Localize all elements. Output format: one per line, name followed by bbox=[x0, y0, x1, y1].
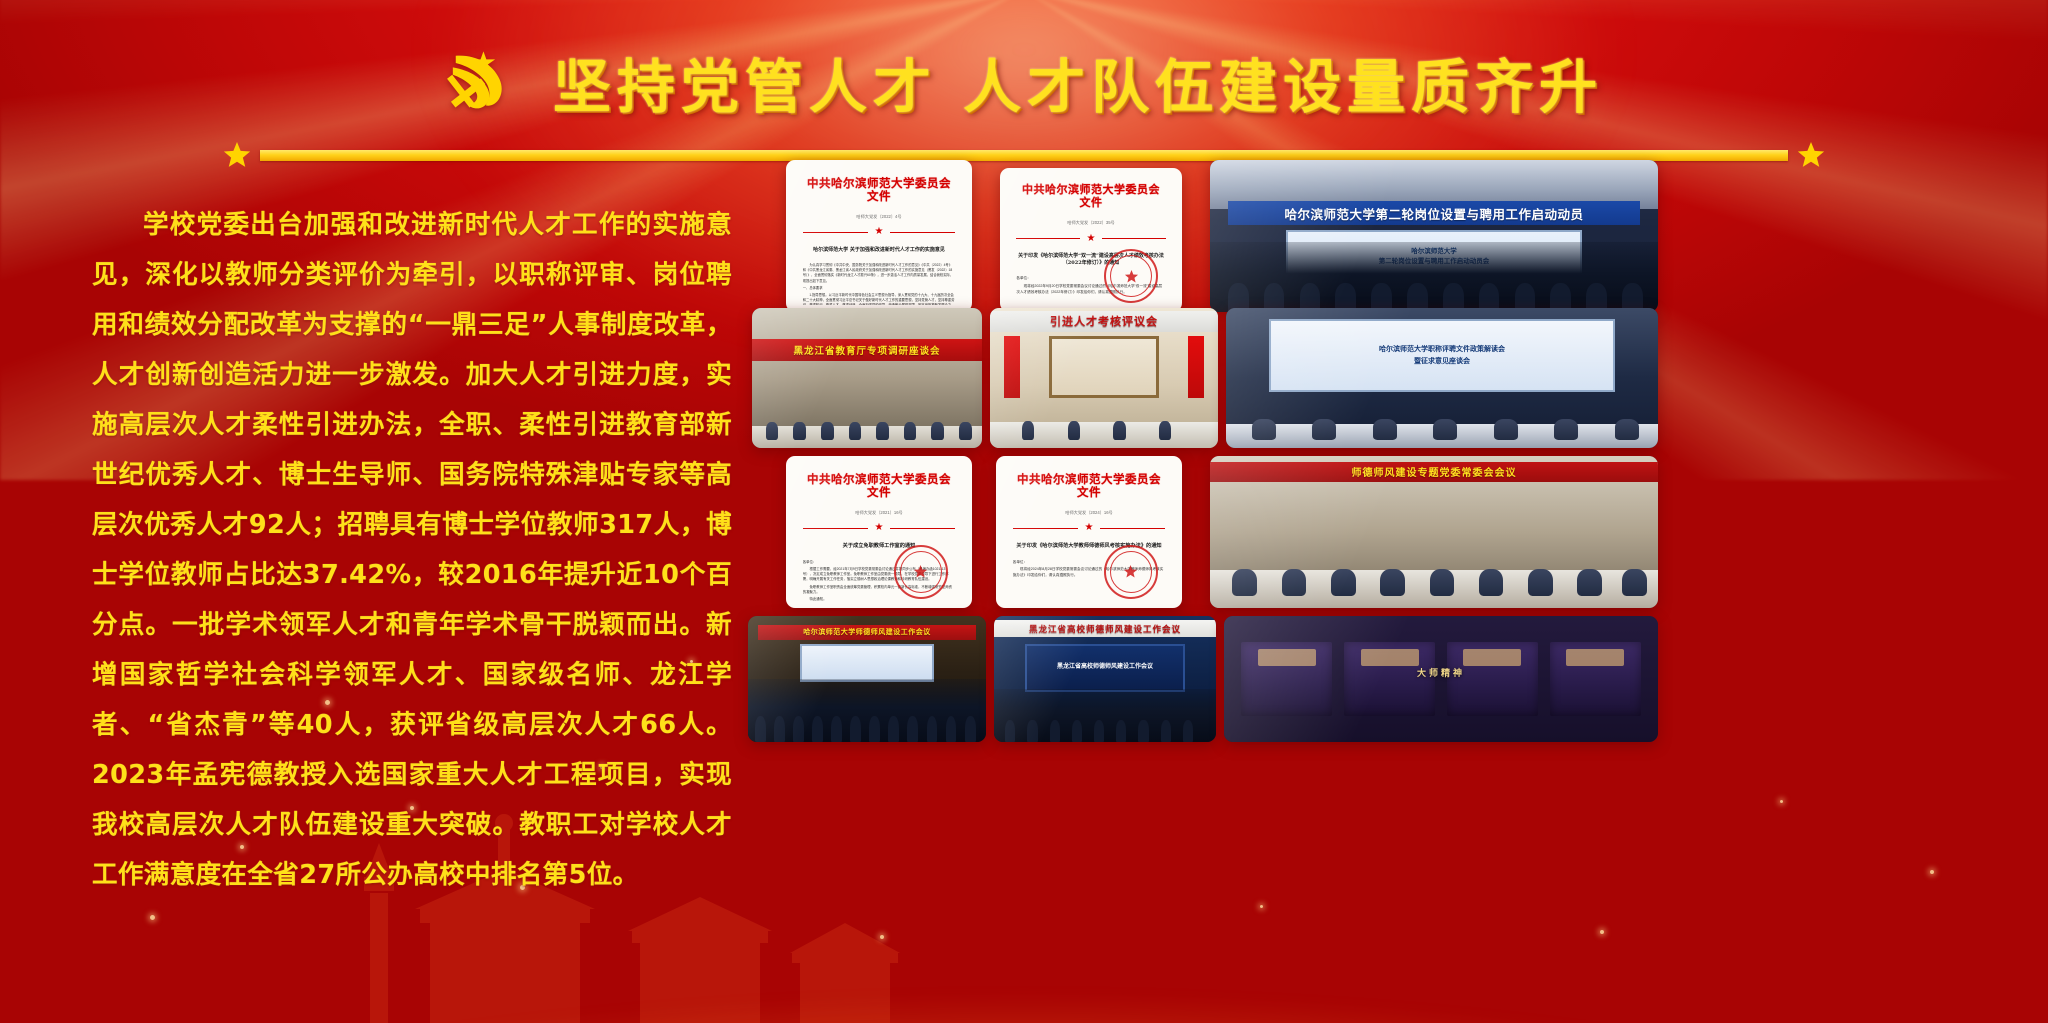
photo-exhibition-rollups: 大师精神 bbox=[1224, 616, 1658, 742]
gallery-item-document[interactable]: 中共哈尔滨师范大学委员会文件 哈师大党发〔2022〕4号 ★ 哈尔滨师范大学 关… bbox=[786, 160, 972, 312]
gallery-item-photo[interactable]: 引进人才考核评议会 bbox=[990, 308, 1218, 448]
gallery-item-photo[interactable]: 哈尔滨师范大学职称评聘文件政策解读会 暨征求意见座谈会 bbox=[1226, 308, 1658, 448]
document-code: 哈师大党发〔2022〕35号 bbox=[1016, 220, 1165, 226]
gallery-item-photo[interactable]: 大师精神 bbox=[1224, 616, 1658, 742]
gallery-item-photo[interactable]: 师德师风建设专题党委常委会会议 bbox=[1210, 456, 1658, 608]
document-divider: ★ bbox=[803, 227, 956, 237]
poster-header: 坚持党管人才 人才队伍建设量质齐升 bbox=[0, 0, 2048, 150]
photo-screen-caption: 黑龙江省高校师德师风建设工作会议 bbox=[1027, 646, 1183, 690]
photo-conference-hall: 黑龙江省高校师德师风建设工作会议 黑龙江省高校师德师风建设工作会议 bbox=[994, 616, 1216, 742]
gallery-item-photo[interactable]: 哈尔滨师范大学第二轮岗位设置与聘用工作启动动员 哈尔滨师范大学 第二轮岗位设置与… bbox=[1210, 160, 1658, 312]
photo-banner-text: 大师精神 bbox=[1224, 666, 1658, 679]
photo-screen-caption: 哈尔滨师范大学职称评聘文件政策解读会 暨征求意见座谈会 bbox=[1271, 321, 1613, 390]
photo-meeting-room: 师德师风建设专题党委常委会会议 bbox=[1210, 456, 1658, 608]
photo-conference-hall: 哈尔滨师范大学第二轮岗位设置与聘用工作启动动员 哈尔滨师范大学 第二轮岗位设置与… bbox=[1210, 160, 1658, 312]
gallery-item-photo[interactable]: 黑龙江省高校师德师风建设工作会议 黑龙江省高校师德师风建设工作会议 bbox=[994, 616, 1216, 742]
title-row: 坚持党管人才 人才队伍建设量质齐升 bbox=[445, 40, 1603, 124]
divider-bar bbox=[260, 150, 1788, 161]
photo-banner-text: 引进人才考核评议会 bbox=[990, 311, 1218, 332]
document-divider: ★ bbox=[1016, 234, 1165, 244]
gallery-item-photo[interactable]: 哈尔滨师范大学师德师风建设工作会议 bbox=[748, 616, 986, 742]
poster-board: 坚持党管人才 人才队伍建设量质齐升 学校党委出台加强和改进新时代人才工作的实施意… bbox=[0, 0, 2048, 1023]
document-title: 中共哈尔滨师范大学委员会文件 bbox=[803, 177, 956, 203]
document-subject: 哈尔滨师范大学 关于加强和改进新时代人才工作的实施意见 bbox=[803, 247, 956, 255]
photo-banner-text: 师德师风建设专题党委常委会会议 bbox=[1210, 462, 1658, 482]
photo-banner-text: 黑龙江省教育厅专项调研座谈会 bbox=[752, 339, 982, 361]
star-icon-left bbox=[222, 140, 252, 170]
official-red-seal-icon bbox=[1104, 545, 1158, 599]
document-code: 哈师大党发〔2022〕4号 bbox=[803, 214, 956, 220]
photo-meeting-room: 黑龙江省教育厅专项调研座谈会 bbox=[752, 308, 982, 448]
photo-banner-text: 哈尔滨师范大学师德师风建设工作会议 bbox=[758, 625, 977, 640]
document-title: 中共哈尔滨师范大学委员会文件 bbox=[1016, 184, 1165, 209]
page-title: 坚持党管人才 人才队伍建设量质齐升 bbox=[553, 40, 1603, 124]
gallery-item-photo[interactable]: 黑龙江省教育厅专项调研座谈会 bbox=[752, 308, 982, 448]
article-body-text: 学校党委出台加强和改进新时代人才工作的实施意见，深化以教师分类评价为牵引，以职称… bbox=[92, 200, 732, 900]
photo-auditorium: 哈尔滨师范大学师德师风建设工作会议 bbox=[748, 616, 986, 742]
official-red-seal-icon bbox=[894, 545, 948, 599]
photo-gallery: 中共哈尔滨师范大学委员会文件 哈师大党发〔2022〕4号 ★ 哈尔滨师范大学 关… bbox=[742, 160, 1958, 734]
photo-conference-hall: 哈尔滨师范大学职称评聘文件政策解读会 暨征求意见座谈会 bbox=[1226, 308, 1658, 448]
document-body: 为认真学习贯彻《中共中央、国务院关于加强和改进新时代人才工作的意见》《中共〔20… bbox=[803, 263, 956, 304]
photo-meeting-room-red: 引进人才考核评议会 bbox=[990, 308, 1218, 448]
photo-banner-text: 黑龙江省高校师德师风建设工作会议 bbox=[994, 620, 1216, 638]
document-divider: ★ bbox=[1013, 523, 1166, 533]
gallery-item-document[interactable]: 中共哈尔滨师范大学委员会文件 哈师大党发〔2024〕16号 ★ 关于印发《哈尔滨… bbox=[996, 456, 1182, 608]
gallery-item-document[interactable]: 中共哈尔滨师范大学委员会文件 哈师大党发〔2021〕16号 ★ 关于成立免职教师… bbox=[786, 456, 972, 608]
document-title: 中共哈尔滨师范大学委员会文件 bbox=[1013, 473, 1166, 499]
document-code: 哈师大党发〔2021〕16号 bbox=[803, 510, 956, 516]
gallery-item-document[interactable]: 中共哈尔滨师范大学委员会文件 哈师大党发〔2022〕35号 ★ 关于印发《哈尔滨… bbox=[1000, 168, 1182, 312]
document-title: 中共哈尔滨师范大学委员会文件 bbox=[803, 473, 956, 499]
party-hammer-sickle-icon bbox=[445, 47, 519, 117]
photo-banner-text: 哈尔滨师范大学第二轮岗位设置与聘用工作启动动员 bbox=[1228, 201, 1640, 225]
document-code: 哈师大党发〔2024〕16号 bbox=[1013, 510, 1166, 516]
document-divider: ★ bbox=[803, 523, 956, 533]
